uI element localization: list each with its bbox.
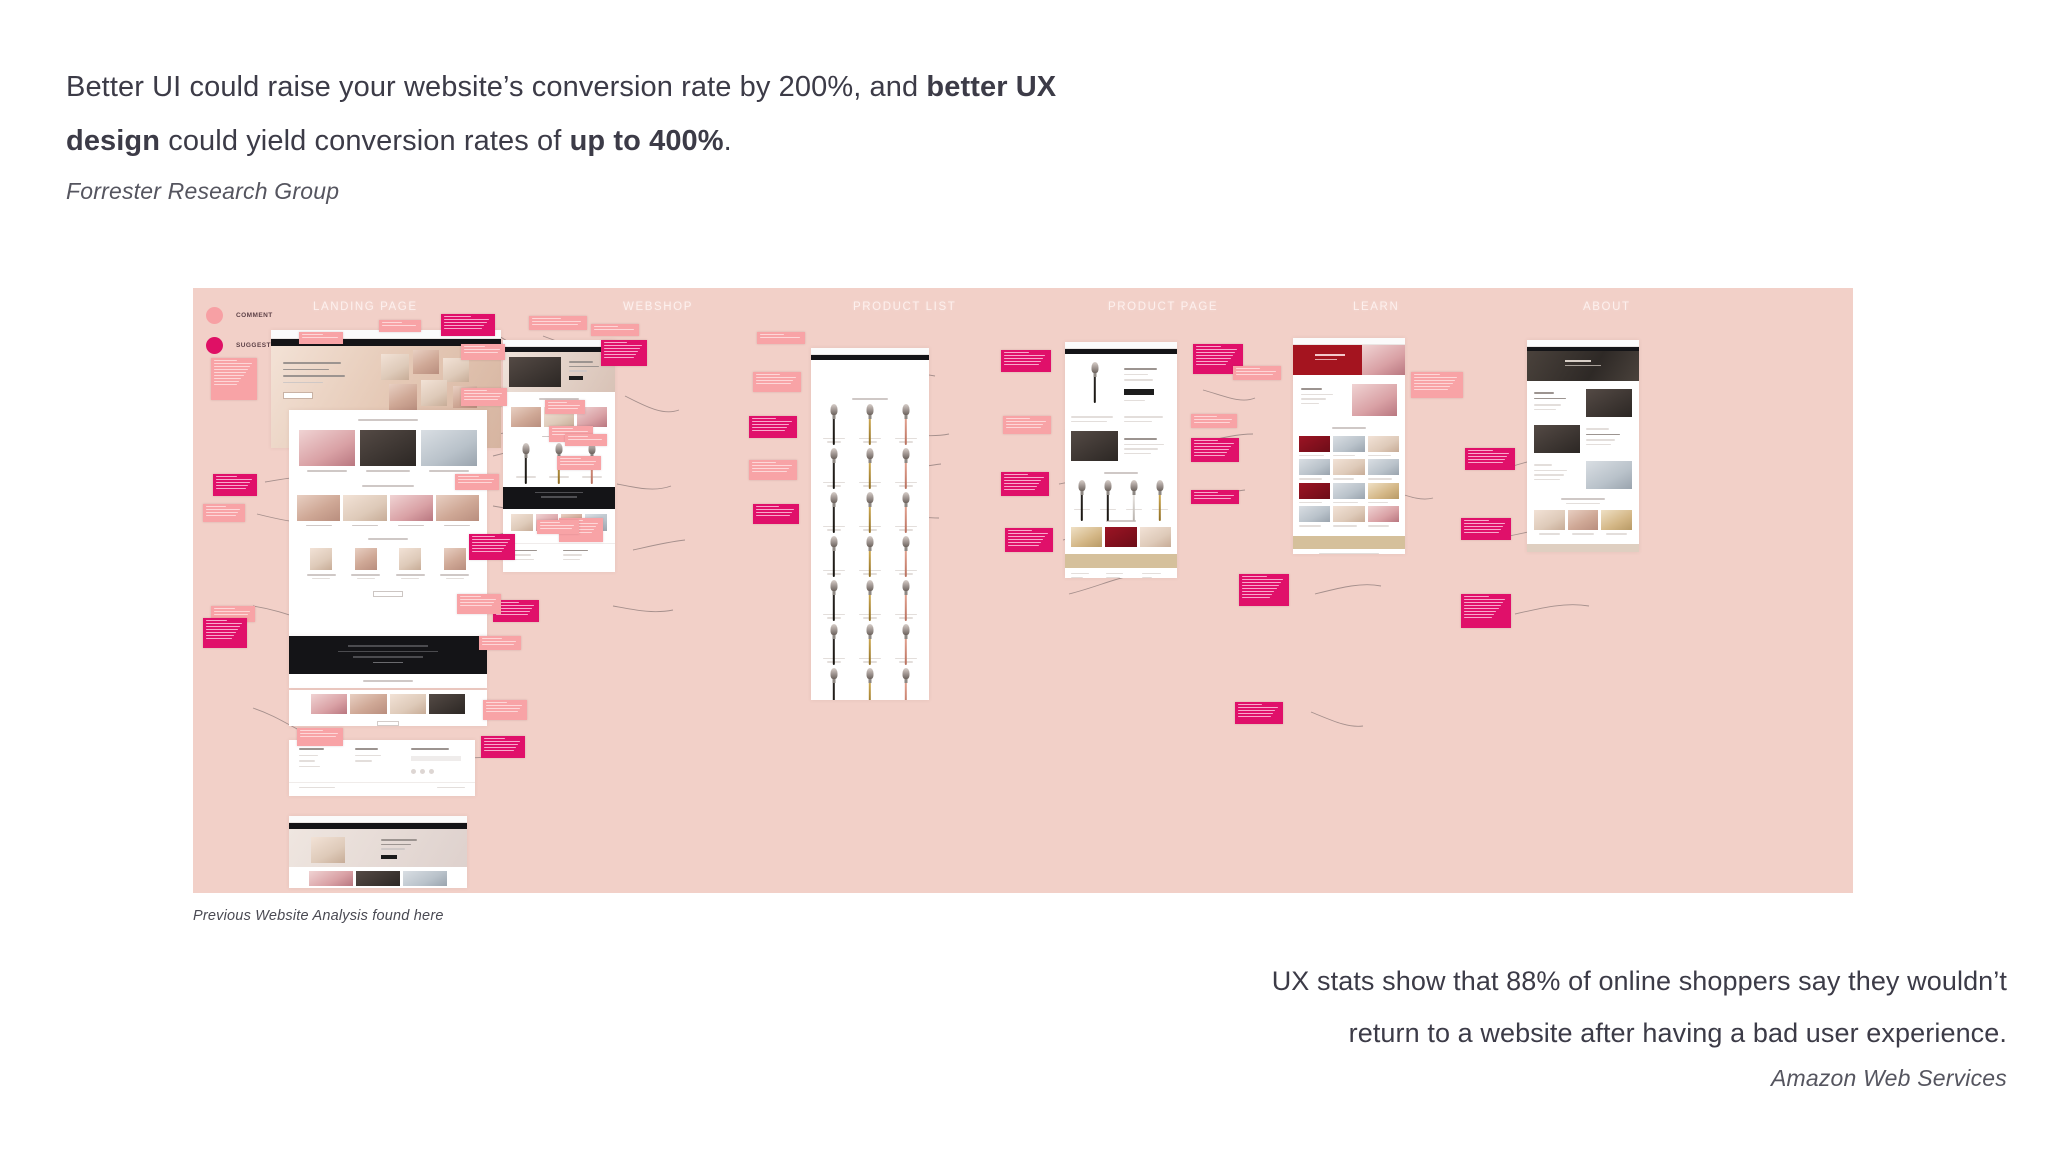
top-quote-attribution: Forrester Research Group [66, 178, 1166, 205]
sticky-note-suggestion[interactable] [1191, 490, 1239, 504]
product-list-item[interactable] [853, 536, 887, 578]
brush-product-icon [853, 580, 887, 612]
brush-product-icon [817, 668, 851, 700]
sticky-note-comment[interactable] [1191, 414, 1237, 428]
sticky-note-suggestion[interactable] [1191, 438, 1239, 462]
mockup-landing-alt-a [289, 816, 467, 888]
column-header-product-page: PRODUCT PAGE [1108, 301, 1218, 313]
column-header-webshop: WEBSHOP [623, 301, 693, 313]
sticky-note-suggestion[interactable] [469, 534, 515, 560]
sticky-note-comment[interactable] [591, 324, 639, 336]
brush-product-icon [853, 668, 887, 700]
brush-product-icon [817, 448, 851, 480]
sticky-note-comment[interactable] [461, 344, 505, 360]
sticky-note-comment[interactable] [297, 728, 343, 746]
brush-product-icon [889, 668, 923, 700]
mockup-product-list [811, 348, 929, 700]
brush-product-icon [889, 624, 923, 656]
mockup-about [1527, 340, 1639, 552]
product-list-item[interactable] [817, 404, 851, 446]
brush-product-icon [853, 448, 887, 480]
sticky-note-comment[interactable] [757, 332, 805, 344]
sticky-note-suggestion[interactable] [1001, 350, 1051, 372]
brush-product-icon [853, 492, 887, 524]
sticky-note-comment[interactable] [455, 474, 499, 490]
sticky-note-comment[interactable] [1411, 372, 1463, 398]
brush-product-icon [817, 492, 851, 524]
product-list-item[interactable] [889, 624, 923, 666]
brush-product-icon [889, 404, 923, 436]
column-header-learn: LEARN [1353, 301, 1399, 313]
suggestion-dot-icon [206, 337, 223, 354]
mockup-product-page [1065, 342, 1177, 578]
sticky-note-comment[interactable] [379, 320, 421, 332]
sticky-note-comment[interactable] [1233, 366, 1281, 380]
product-list-item[interactable] [817, 448, 851, 490]
column-header-product-list: PRODUCT LIST [853, 301, 956, 313]
product-list-item[interactable] [853, 492, 887, 534]
top-quote-line-2-text: could yield conversion rates of [160, 125, 570, 157]
sticky-note-comment[interactable] [211, 358, 257, 400]
sticky-note-comment[interactable] [557, 456, 601, 470]
product-list-item[interactable] [817, 536, 851, 578]
board-caption: Previous Website Analysis found here [193, 908, 444, 924]
top-quote-line-2-emphasis-a: design [66, 125, 160, 157]
sticky-note-suggestion[interactable] [203, 618, 247, 648]
comment-dot-icon [206, 307, 223, 324]
sticky-note-comment[interactable] [537, 520, 579, 534]
sticky-note-suggestion[interactable] [601, 340, 647, 366]
sticky-note-suggestion[interactable] [749, 416, 797, 438]
product-list-item[interactable] [889, 492, 923, 534]
top-quote-line-1-text: Better UI could raise your website’s con… [66, 71, 926, 103]
sticky-note-comment[interactable] [529, 316, 587, 330]
brush-product-icon [889, 536, 923, 568]
sticky-note-comment[interactable] [749, 460, 797, 480]
product-list-item[interactable] [817, 492, 851, 534]
sticky-note-comment[interactable] [545, 400, 585, 414]
brush-product-icon [889, 580, 923, 612]
product-list-item[interactable] [853, 580, 887, 622]
sticky-note-suggestion[interactable] [481, 736, 525, 758]
top-quote-line-2: design could yield conversion rates of u… [66, 114, 1166, 168]
column-header-about: ABOUT [1583, 301, 1631, 313]
sticky-note-comment[interactable] [753, 372, 801, 392]
sticky-note-comment[interactable] [457, 594, 501, 614]
column-header-landing-page: LANDING PAGE [313, 301, 418, 313]
sticky-note-suggestion[interactable] [1465, 448, 1515, 470]
sticky-note-suggestion[interactable] [1235, 702, 1283, 724]
product-list-item[interactable] [889, 448, 923, 490]
sticky-note-suggestion[interactable] [753, 504, 799, 524]
brush-product-icon [889, 448, 923, 480]
sticky-note-suggestion[interactable] [1001, 472, 1049, 496]
brush-product-icon [853, 404, 887, 436]
product-list-item[interactable] [817, 580, 851, 622]
bottom-quote-attribution: Amazon Web Services [1007, 1065, 2007, 1092]
top-quote-block: Better UI could raise your website’s con… [66, 60, 1166, 205]
product-list-item[interactable] [853, 404, 887, 446]
product-list-item[interactable] [817, 668, 851, 701]
top-quote-line-1-emphasis: better UX [926, 71, 1056, 103]
sticky-note-comment[interactable] [203, 504, 245, 522]
sticky-note-suggestion[interactable] [441, 314, 495, 336]
product-list-item[interactable] [817, 624, 851, 666]
top-quote-line-2-period: . [724, 125, 732, 157]
legend-label-comment: COMMENT [236, 312, 273, 319]
sticky-note-suggestion[interactable] [1005, 528, 1053, 552]
sticky-note-comment[interactable] [483, 700, 527, 720]
bottom-quote-line-1: UX stats show that 88% of online shopper… [1007, 955, 2007, 1007]
product-list-item[interactable] [889, 404, 923, 446]
product-list-item[interactable] [853, 624, 887, 666]
product-list-item[interactable] [853, 668, 887, 701]
sticky-note-comment[interactable] [479, 636, 521, 650]
bottom-quote-block: UX stats show that 88% of online shopper… [1007, 955, 2007, 1092]
brush-product-icon [817, 404, 851, 436]
sticky-note-comment[interactable] [461, 388, 507, 406]
brush-product-icon [817, 536, 851, 568]
mockup-landing-footer [289, 740, 475, 796]
product-list-grid [811, 404, 929, 701]
website-analysis-board: COMMENT SUGGESTION / IDEA LANDING PAGE W… [193, 288, 1853, 893]
bottom-quote-line-2: return to a website after having a bad u… [1007, 1007, 2007, 1059]
sticky-note-suggestion[interactable] [1461, 518, 1511, 540]
brush-product-icon [817, 624, 851, 656]
sticky-note-suggestion[interactable] [213, 474, 257, 496]
top-quote-line-2-emphasis-b: up to 400% [570, 125, 724, 157]
sticky-note-comment[interactable] [299, 332, 343, 344]
top-quote-line-1: Better UI could raise your website’s con… [66, 60, 1166, 114]
sticky-note-suggestion[interactable] [1239, 574, 1289, 606]
product-list-item[interactable] [853, 448, 887, 490]
product-list-item[interactable] [889, 536, 923, 578]
mockup-learn [1293, 338, 1405, 554]
sticky-note-comment[interactable] [1003, 416, 1051, 434]
brush-product-icon [853, 624, 887, 656]
brush-product-icon [853, 536, 887, 568]
brush-product-icon [817, 580, 851, 612]
brush-product-icon [889, 492, 923, 524]
product-list-item[interactable] [889, 580, 923, 622]
product-list-item[interactable] [889, 668, 923, 701]
mockup-landing-gallery [289, 690, 487, 726]
mockup-landing-promo [289, 636, 487, 688]
sticky-note-suggestion[interactable] [1461, 594, 1511, 628]
sticky-note-comment[interactable] [565, 434, 607, 446]
